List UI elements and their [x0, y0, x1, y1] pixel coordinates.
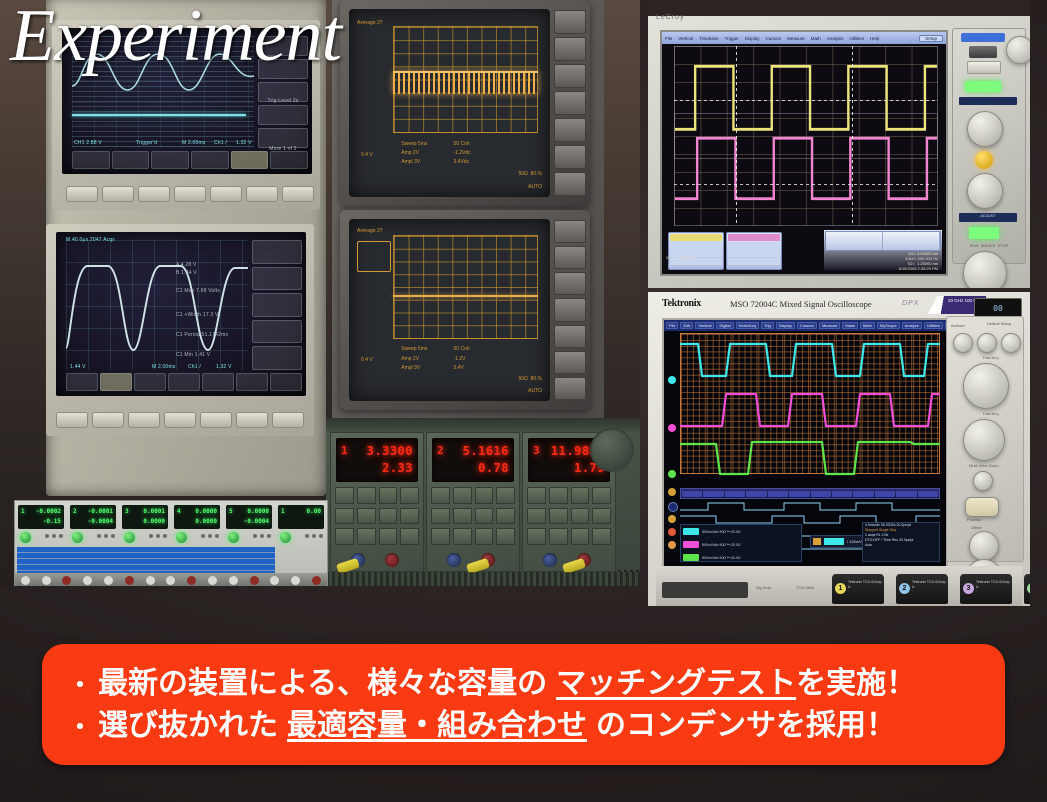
- psu3-k10[interactable]: [549, 528, 568, 545]
- psu3-k5[interactable]: [527, 508, 546, 525]
- lecroy-knob-adjust[interactable]: [963, 251, 1007, 288]
- gfoot-1[interactable]: [21, 576, 30, 585]
- tektronix-ch2-marker[interactable]: [668, 424, 676, 432]
- psu2-k4[interactable]: [496, 487, 515, 504]
- psu-module-1-channel: 1: [341, 444, 348, 457]
- psu3-k11[interactable]: [571, 528, 590, 545]
- softkey-max[interactable]: [252, 320, 302, 344]
- probe-3-text: Tektronix TCA-S/Amp A: [976, 580, 1012, 590]
- psu2-k10[interactable]: [453, 528, 472, 545]
- gk13[interactable]: [253, 534, 257, 538]
- c2-badge-line1: [728, 242, 780, 249]
- green-psu-controller-button[interactable]: [280, 532, 291, 543]
- bus-seg-11: [896, 491, 916, 497]
- probe-4-number: 4: [1027, 583, 1030, 594]
- tek-menu-analyze[interactable]: Analyze: [902, 322, 922, 329]
- psu-module-2-voltage: 5.1616: [463, 444, 509, 458]
- gk4[interactable]: [97, 534, 101, 538]
- lecroy-menu-analysis[interactable]: Analysis: [827, 36, 844, 41]
- scope-top-left-readout-5: 1.32 V: [236, 140, 252, 146]
- scope-bottom-left-button-row[interactable]: [56, 412, 304, 428]
- scope-amber-bottom-label-g: 0.4 V: [361, 357, 373, 364]
- tek-menu-mask[interactable]: Mask: [842, 322, 858, 329]
- psu-module-2-channel: 2: [437, 444, 444, 457]
- tek-button-extra[interactable]: [1001, 333, 1021, 353]
- scope-amber-top-label-g: 0.4 V: [361, 152, 373, 159]
- green-psu-5-display: 5 0.0000 -0.0004: [226, 505, 272, 529]
- lecroy-front-panel: ADJUST RUN SINGLE STOP: [952, 28, 1026, 264]
- menu-measure-waveform[interactable]: [112, 151, 150, 169]
- gk17[interactable]: [312, 534, 316, 538]
- psu-module-1-current: 2.33: [382, 461, 413, 475]
- tek-menu-file[interactable]: File: [666, 322, 678, 329]
- tektronix-d1-marker[interactable]: [668, 515, 676, 523]
- callout-line-1: ・ 最新の装置による、様々な容量の マッチングテスト を実施！: [68, 667, 979, 701]
- amber-softkey-2[interactable]: [554, 37, 586, 61]
- scope-top-left-readout-1: CH1 2.88 V: [74, 140, 102, 146]
- scope-amber-bottom-label-c: Ampl 3V: [401, 365, 420, 372]
- scope-amber-top-screen: Average 27 Sweep 5ms Amp 2V Ampl 3V 50 C…: [349, 9, 550, 197]
- scope-amber-bottom-trace: [393, 295, 538, 297]
- lecroy-menu-bar[interactable]: File Vertical Timebase Trigger Display C…: [662, 32, 946, 44]
- scope-amber-bottom-graticule: [393, 235, 538, 339]
- lecroy-menu-help[interactable]: Help: [870, 36, 879, 41]
- psu-2-terminal-negative[interactable]: [447, 553, 461, 567]
- menu-snapshot-b[interactable]: [270, 373, 302, 391]
- panel-button-3[interactable]: [138, 186, 170, 202]
- scope-top-left-bottom-menu[interactable]: [72, 151, 308, 169]
- gfoot-15[interactable]: [312, 576, 321, 585]
- tek-menu-vertical[interactable]: Vertical: [695, 322, 714, 329]
- amber-b-softkey-2[interactable]: [554, 246, 586, 269]
- tek-knob-position[interactable]: [969, 531, 999, 561]
- scope-amber-bottom-softkeys[interactable]: [554, 220, 586, 400]
- psu1-k11[interactable]: [379, 528, 398, 545]
- ib1: [826, 232, 883, 250]
- lecroy-knob-trigger[interactable]: [967, 173, 1003, 209]
- amber-softkey-5[interactable]: [554, 118, 586, 142]
- callout-line-2: ・ 選び抜かれた 最適容量・組み合わせ のコンデンサを採用！: [68, 709, 979, 743]
- lecroy-brand-label: LeCroy: [656, 14, 685, 21]
- panel-button-b3[interactable]: [128, 412, 160, 428]
- tektronix-probe-2[interactable]: 2 Tektronix TCA-S/Amp A: [896, 574, 948, 604]
- tektronix-trace-ch3: [680, 428, 940, 482]
- amber-softkey-6[interactable]: [554, 145, 586, 169]
- lecroy-menu-cursors[interactable]: Cursors: [765, 36, 781, 41]
- scope-amber-bottom-corner-label: Average 27: [357, 228, 382, 235]
- lecroy-runstop-labels: RUN SINGLE STOP: [957, 243, 1021, 248]
- lecroy-menu-measure[interactable]: Measure: [787, 36, 805, 41]
- softkey-high[interactable]: [252, 267, 302, 291]
- photo-lecroy-oscilloscope: LeCroy File Vertical Timebase Trigger Di…: [648, 0, 1030, 288]
- tektronix-ch3-marker[interactable]: [668, 470, 676, 478]
- gk10[interactable]: [201, 534, 205, 538]
- scope-amber-bottom-label-d: 50 Coh: [454, 346, 470, 353]
- green-psu-2-output-button[interactable]: [72, 532, 83, 543]
- psu3-k1[interactable]: [527, 487, 546, 504]
- c2-badge-header: [728, 234, 780, 241]
- lecroy-channel-2-badge[interactable]: [726, 232, 782, 270]
- green-psu-3-output-button[interactable]: [124, 532, 135, 543]
- psu-module-1-keypad[interactable]: [335, 487, 419, 545]
- probe-2-number: 2: [899, 583, 910, 594]
- lecroy-menu-display[interactable]: Display: [745, 36, 760, 41]
- tektronix-bus-marker[interactable]: [668, 488, 676, 496]
- scope-amber-bottom-label-f: 3.4V: [454, 365, 464, 372]
- tektronix-model: MSO 72004C Mixed Signal Oscilloscope: [730, 299, 872, 309]
- tektronix-probe-1[interactable]: 1 Tektronix TCA-S/Amp A: [832, 574, 884, 604]
- gfoot-2[interactable]: [42, 576, 51, 585]
- scope-amber-bottom-infobox: [357, 241, 391, 272]
- menu-auto-setup-b[interactable]: [236, 373, 268, 391]
- callout-line-1-bullet: ・: [68, 672, 98, 699]
- panel-button-b2[interactable]: [92, 412, 124, 428]
- panel-button-b5[interactable]: [200, 412, 232, 428]
- tektronix-probe-4[interactable]: 4 Tektronix TCA-S/Amp A: [1024, 574, 1030, 604]
- tek-label-offset: Offset: [971, 525, 982, 530]
- green-psu-1-keys[interactable]: [45, 534, 63, 538]
- green-psu-2-current: -0.0004: [88, 518, 113, 525]
- green-psu-controller-channel: 1: [281, 508, 285, 515]
- probe-2-text: Tektronix TCA-S/Amp A: [912, 580, 948, 590]
- psu3-k2[interactable]: [549, 487, 568, 504]
- menu-waveform-ch2b[interactable]: [202, 373, 234, 391]
- tek-label-fast-acq-2: Fast Acq: [983, 411, 999, 416]
- gk7[interactable]: [149, 534, 153, 538]
- lecroy-menu-trigger[interactable]: Trigger: [725, 36, 739, 41]
- trigger-icon: [813, 538, 821, 545]
- psu1-k8[interactable]: [400, 508, 419, 525]
- gfoot-5[interactable]: [104, 576, 113, 585]
- scope-bottom-left-meas-4: C1 +Width 17.3 V: [176, 312, 219, 318]
- gk3[interactable]: [59, 534, 63, 538]
- gk15[interactable]: [267, 534, 271, 538]
- gk2[interactable]: [52, 534, 56, 538]
- amber-softkey-3[interactable]: [554, 64, 586, 88]
- panel-button-4[interactable]: [174, 186, 206, 202]
- photo-lab-bench: CH1 2.88 V Trigger'd M 2.00ms Ch1 / 1.32…: [0, 0, 640, 586]
- tek-button-multiview-zoom[interactable]: [973, 471, 993, 491]
- psu2-k11[interactable]: [475, 528, 494, 545]
- scope-bottom-left: M 40.0μs 2047 Acqs A 4.28 V B 1.44 V C1 …: [46, 224, 314, 436]
- psu2-k1[interactable]: [431, 487, 450, 504]
- psu3-k9[interactable]: [527, 528, 546, 545]
- tek-menu-measure[interactable]: Measure: [819, 322, 841, 329]
- lecroy-channel-1-badge[interactable]: [668, 232, 724, 270]
- trigger-level-text: / 420mV: [847, 539, 862, 544]
- psu-rotary-knob[interactable]: [590, 428, 634, 472]
- tek-menu-display[interactable]: Display: [776, 322, 795, 329]
- menu-snapshot[interactable]: [270, 151, 308, 169]
- psu-module-3-keypad[interactable]: [527, 487, 611, 545]
- psu-module-2-keypad[interactable]: [431, 487, 515, 545]
- scope-bottom-left-screen: M 40.0μs 2047 Acqs A 4.28 V B 1.44 V C1 …: [56, 232, 306, 396]
- psu2-k8[interactable]: [496, 508, 515, 525]
- tektronix-menu-bar[interactable]: File Edit Vertical Digital Horiz/Acq Tri…: [664, 320, 946, 331]
- trigger-source-swatch: [824, 538, 844, 545]
- photo-tektronix-oscilloscope: Tektronix MSO 72004C Mixed Signal Oscill…: [648, 292, 1030, 606]
- tek-knob-vertical-scale[interactable]: [963, 363, 1009, 409]
- bus-seg-5: [768, 491, 788, 497]
- tektronix-ch1-marker[interactable]: [668, 376, 676, 384]
- psu3-k4[interactable]: [592, 487, 611, 504]
- psu1-k4[interactable]: [400, 487, 419, 504]
- scope-amber-top-status-2: AUTO: [528, 184, 542, 191]
- psu1-k12[interactable]: [400, 528, 419, 545]
- scope-bottom-left-side-menu[interactable]: [252, 240, 302, 370]
- gfoot-9[interactable]: [187, 576, 196, 585]
- tek-menu-myscope[interactable]: MyScope: [877, 322, 900, 329]
- gk8[interactable]: [156, 534, 160, 538]
- probe-1-number: 1: [835, 583, 846, 594]
- green-psu-1-output-button[interactable]: [20, 532, 31, 543]
- scope-amber-bottom-status-1: 50Ω 80.%: [518, 376, 541, 383]
- green-psu-5-voltage: 0.0000: [247, 508, 269, 515]
- callout-line-2-bullet: ・: [68, 714, 98, 741]
- scope-top-left-button-row[interactable]: [66, 186, 314, 202]
- scope-amber-top-label-d: 50 Coh: [454, 141, 470, 148]
- gfoot-8[interactable]: [166, 576, 175, 585]
- tek-menu-edit[interactable]: Edit: [680, 322, 693, 329]
- gfoot-12[interactable]: [250, 576, 259, 585]
- lecroy-trace-c2: [675, 114, 937, 225]
- panel-button-b4[interactable]: [164, 412, 196, 428]
- gk18[interactable]: [319, 534, 323, 538]
- psu1-k2[interactable]: [357, 487, 376, 504]
- amber-b-softkey-6[interactable]: [554, 351, 586, 374]
- gfoot-4[interactable]: [83, 576, 92, 585]
- scope-amber-bottom-screen: Average 27 Sweep 5ms Amp 2V Ampl 3V 50 C…: [349, 219, 550, 401]
- amber-b-softkey-7[interactable]: [554, 377, 586, 400]
- lecroy-panel-button-2[interactable]: [967, 61, 1001, 74]
- scope-amber-bottom-label-a: Sweep 5ms: [401, 346, 427, 353]
- amber-b-softkey-3[interactable]: [554, 272, 586, 295]
- tek-menu-cursors[interactable]: Cursors: [797, 322, 817, 329]
- gfoot-13[interactable]: [270, 576, 279, 585]
- lecroy-corner-knob[interactable]: [1006, 36, 1030, 64]
- lecroy-cursor-x2[interactable]: [852, 46, 853, 226]
- psu1-k6[interactable]: [357, 508, 376, 525]
- psu1-k3[interactable]: [379, 487, 398, 504]
- lecroy-cursor-x1[interactable]: [736, 46, 737, 226]
- lecroy-menu-utilities[interactable]: Utilities: [850, 36, 865, 41]
- gk11[interactable]: [208, 534, 212, 538]
- tek-menu-utilities[interactable]: Utilities: [924, 322, 943, 329]
- scope-bottom-left-meas-3: C1 Max 7.68 Volts: [176, 288, 220, 294]
- scope-bottom-left-bottom-menu[interactable]: [66, 373, 302, 391]
- scope-amber-top-trace: [393, 71, 538, 94]
- tek-menu-digital[interactable]: Digital: [716, 322, 733, 329]
- gk6[interactable]: [111, 534, 115, 538]
- panel-button-7[interactable]: [282, 186, 314, 202]
- tek-knob-horizontal-scale[interactable]: [963, 419, 1005, 461]
- softkey-low[interactable]: [252, 293, 302, 317]
- psu1-k9[interactable]: [335, 528, 354, 545]
- lecroy-menu-math[interactable]: Math: [811, 36, 821, 41]
- green-psu-2-voltage: -0.0001: [88, 508, 113, 515]
- psu2-k5[interactable]: [431, 508, 450, 525]
- gk5[interactable]: [104, 534, 108, 538]
- gk12[interactable]: [215, 534, 219, 538]
- green-psu-4-voltage: 0.0000: [195, 508, 217, 515]
- lecroy-knob-vertical[interactable]: [967, 111, 1003, 147]
- psu-module-1-voltage: 3.3300: [367, 444, 413, 458]
- lecroy-run-led: [969, 227, 999, 239]
- tektronix-channel-badges[interactable]: 500mV/div 50Ω ᴮʷ:20.0G 500mV/div 50Ω ᴮʷ:…: [680, 524, 802, 562]
- scope-amber-top-label-f: 3.4Vdc: [454, 159, 470, 166]
- badge-swatch-ch2: [683, 541, 699, 548]
- psu3-k8[interactable]: [592, 508, 611, 525]
- green-psu-3-current: 0.0000: [143, 518, 165, 525]
- psu2-k9[interactable]: [431, 528, 450, 545]
- amber-softkey-1[interactable]: [554, 10, 586, 34]
- gfoot-3[interactable]: [62, 576, 71, 585]
- tektronix-probe-3[interactable]: 3 Tektronix TCA-S/Amp A: [960, 574, 1012, 604]
- tek-button-autoset[interactable]: [953, 333, 973, 353]
- green-psu-4-current: 0.0000: [195, 518, 217, 525]
- scope-amber-top-softkeys[interactable]: [554, 10, 586, 196]
- scope-top-left-readout-4: Ch1 /: [214, 140, 227, 146]
- lecroy-menu-vertical[interactable]: Vertical: [678, 36, 693, 41]
- gfoot-10[interactable]: [208, 576, 217, 585]
- softkey-5[interactable]: [258, 128, 308, 148]
- softkey-select-measurement[interactable]: [252, 240, 302, 264]
- panel-button-b7[interactable]: [272, 412, 304, 428]
- tek-button-default-setup[interactable]: [977, 333, 997, 353]
- lecroy-menu-file[interactable]: File: [665, 36, 672, 41]
- softkey-4[interactable]: [258, 105, 308, 125]
- psu2-k6[interactable]: [453, 508, 472, 525]
- green-psu-controller-keys[interactable]: [305, 534, 323, 538]
- menu-waveform-ch2[interactable]: [191, 151, 229, 169]
- green-psu-4-keys[interactable]: [201, 534, 219, 538]
- bus-seg-1: [682, 491, 702, 497]
- softkey-3[interactable]: [258, 82, 308, 102]
- tektronix-d2-marker[interactable]: [668, 528, 676, 536]
- menu-measure-selected[interactable]: [100, 373, 132, 391]
- green-psu-2-keys[interactable]: [97, 534, 115, 538]
- menu-setting[interactable]: [168, 373, 200, 391]
- tek-button-position-bar[interactable]: [965, 497, 999, 517]
- green-psu-4-output-button[interactable]: [176, 532, 187, 543]
- tektronix-status-panel: 4.0ms/div 50.0GS/s 20.0ps/pt Stopped Sin…: [862, 522, 940, 562]
- psu2-k2[interactable]: [453, 487, 472, 504]
- green-psu-1-voltage: -0.0002: [36, 508, 61, 515]
- tektronix-d0-marker[interactable]: [668, 502, 678, 512]
- psu-module-1-display: 1 3.3300 2.33: [336, 438, 418, 482]
- psu-1-terminal-positive[interactable]: [385, 553, 399, 567]
- psu2-k12[interactable]: [496, 528, 515, 545]
- psu1-k1[interactable]: [335, 487, 354, 504]
- panel-button-2[interactable]: [102, 186, 134, 202]
- tek-menu-math[interactable]: Math: [860, 322, 875, 329]
- green-psu-5-output-button[interactable]: [228, 532, 239, 543]
- menu-setting-ch1[interactable]: [151, 151, 189, 169]
- scope-amber-bottom-label-b: Amp 2V: [401, 356, 419, 363]
- gk16[interactable]: [305, 534, 309, 538]
- psu1-k5[interactable]: [335, 508, 354, 525]
- gk1[interactable]: [45, 534, 49, 538]
- scope-amber-top-corner-label: Average 27: [357, 20, 382, 27]
- lecroy-panel-button-1[interactable]: [969, 46, 997, 58]
- scope-amber-top: Average 27 Sweep 5ms Amp 2V Ampl 3V 50 C…: [340, 0, 590, 206]
- badge-text-ch3: 500mV/div 50Ω ᴮʷ:20.0G: [702, 556, 741, 560]
- amber-softkey-7[interactable]: [554, 172, 586, 196]
- gk14[interactable]: [260, 534, 264, 538]
- green-psu-5-keys[interactable]: [253, 534, 271, 538]
- lecroy-cursor-y2[interactable]: [674, 184, 938, 185]
- bus-seg-8: [832, 491, 852, 497]
- gfoot-6[interactable]: [125, 576, 134, 585]
- softkey-min[interactable]: [252, 346, 302, 370]
- menu-waveform[interactable]: [66, 373, 98, 391]
- lecroy-adjust-label: ADJUST: [959, 213, 1017, 222]
- psu-3-terminal-negative[interactable]: [543, 553, 557, 567]
- tektronix-dpx-badge: DPX: [902, 300, 919, 307]
- psu-module-2-display: 2 5.1616 0.78: [432, 438, 514, 482]
- callout-box: ・ 最新の装置による、様々な容量の マッチングテスト を実施！ ・ 選び抜かれた…: [42, 644, 1005, 765]
- green-psu-1-display: 1 -0.0002 -0.15: [18, 505, 64, 529]
- panel-button-6[interactable]: [246, 186, 278, 202]
- scope-top-left-readout-2: Trigger'd: [136, 140, 157, 146]
- tek-menu-trig[interactable]: Trig: [761, 322, 774, 329]
- amber-softkey-4[interactable]: [554, 91, 586, 115]
- panel-button-b6[interactable]: [236, 412, 268, 428]
- panel-button-b1[interactable]: [56, 412, 88, 428]
- bus-seg-4: [746, 491, 766, 497]
- green-psu-3-keys[interactable]: [149, 534, 167, 538]
- power-supply-rack-green: 1 -0.0002 -0.15 2 -0.0001 -0.0004 3: [14, 500, 328, 586]
- bus-seg-10: [875, 491, 895, 497]
- badge-swatch-ch3: [683, 554, 699, 561]
- menu-auto-setup[interactable]: [231, 151, 269, 169]
- psu2-k7[interactable]: [475, 508, 494, 525]
- psu3-k3[interactable]: [571, 487, 590, 504]
- psu1-k10[interactable]: [357, 528, 376, 545]
- psu3-k6[interactable]: [549, 508, 568, 525]
- gk9[interactable]: [163, 534, 167, 538]
- tektronix-badge-row-1: 500mV/div 50Ω ᴮʷ:20.0G: [681, 525, 801, 538]
- callout-line-1-emphasis: マッチングテスト: [556, 667, 796, 701]
- gfoot-11[interactable]: [229, 576, 238, 585]
- tektronix-d3-marker[interactable]: [668, 541, 676, 549]
- psu1-k7[interactable]: [379, 508, 398, 525]
- amber-b-softkey-4[interactable]: [554, 298, 586, 321]
- lecroy-menu-timebase[interactable]: Timebase: [699, 36, 719, 41]
- menu-waveform-record[interactable]: [72, 151, 110, 169]
- menu-remove-measure[interactable]: [134, 373, 166, 391]
- lecroy-menu-setup-button[interactable]: Setup: [919, 35, 943, 42]
- green-psu-footer-knobs[interactable]: [15, 573, 327, 586]
- gfoot-7[interactable]: [146, 576, 155, 585]
- psu2-k3[interactable]: [475, 487, 494, 504]
- tek-label-default-setup: Default Setup: [981, 321, 1017, 326]
- lecroy-cursor-y1[interactable]: [674, 100, 938, 101]
- lecroy-panel-blue-led: [961, 33, 1005, 42]
- psu3-k7[interactable]: [571, 508, 590, 525]
- psu3-k12[interactable]: [592, 528, 611, 545]
- panel-button-1[interactable]: [66, 186, 98, 202]
- scope-bottom-left-meas-2: B 1.44 V: [176, 270, 197, 276]
- tek-menu-horizacq[interactable]: Horiz/Acq: [736, 322, 759, 329]
- gfoot-14[interactable]: [291, 576, 300, 585]
- panel-button-5[interactable]: [210, 186, 242, 202]
- tek-label-autoset: Autoset: [951, 323, 965, 328]
- tektronix-front-panel: Autoset Default Setup Fast Acq Fast Acq …: [946, 316, 1024, 562]
- amber-b-softkey-5[interactable]: [554, 325, 586, 348]
- c1-badge-line1: [670, 242, 722, 249]
- amber-b-softkey-1[interactable]: [554, 220, 586, 243]
